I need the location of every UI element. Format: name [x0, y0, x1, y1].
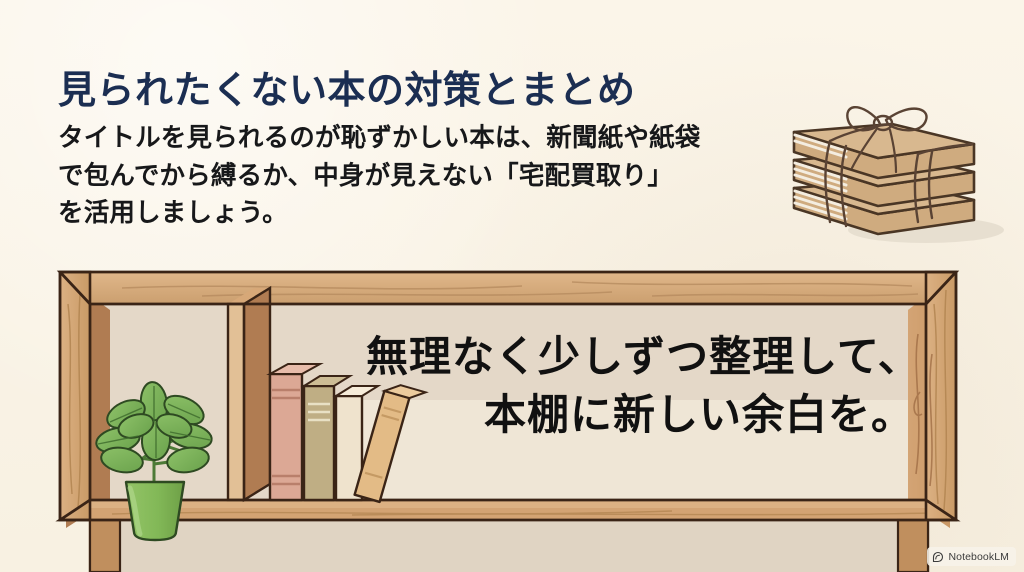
notebooklm-logo-icon	[932, 551, 944, 563]
bookshelf-illustration	[52, 264, 964, 572]
quote-highlight-panel	[340, 400, 928, 500]
wrapped-books-illustration	[786, 62, 1016, 248]
body-line-1: タイトルを見られるのが恥ずかしい本は、新聞紙や紙袋	[58, 120, 770, 158]
shelf-divider	[228, 288, 270, 500]
watermark-label: NotebookLM	[948, 551, 1009, 563]
wrapped-books-icon	[786, 62, 1016, 248]
shelf-left-post	[60, 272, 90, 520]
page-title: 見られたくない本の対策とまとめ	[58, 69, 758, 114]
body-paragraph: タイトルを見られるのが恥ずかしい本は、新聞紙や紙袋 で包んでから縛るか、中身が見…	[58, 120, 770, 233]
body-line-2: で包んでから縛るか、中身が見えない「宅配買取り」	[58, 158, 770, 196]
body-line-3: を活用しましょう。	[58, 195, 770, 233]
slide-canvas: 見られたくない本の対策とまとめ タイトルを見られるのが恥ずかしい本は、新聞紙や紙…	[0, 0, 1024, 572]
bookshelf-icon	[52, 264, 964, 572]
notebooklm-watermark: NotebookLM	[927, 547, 1016, 566]
